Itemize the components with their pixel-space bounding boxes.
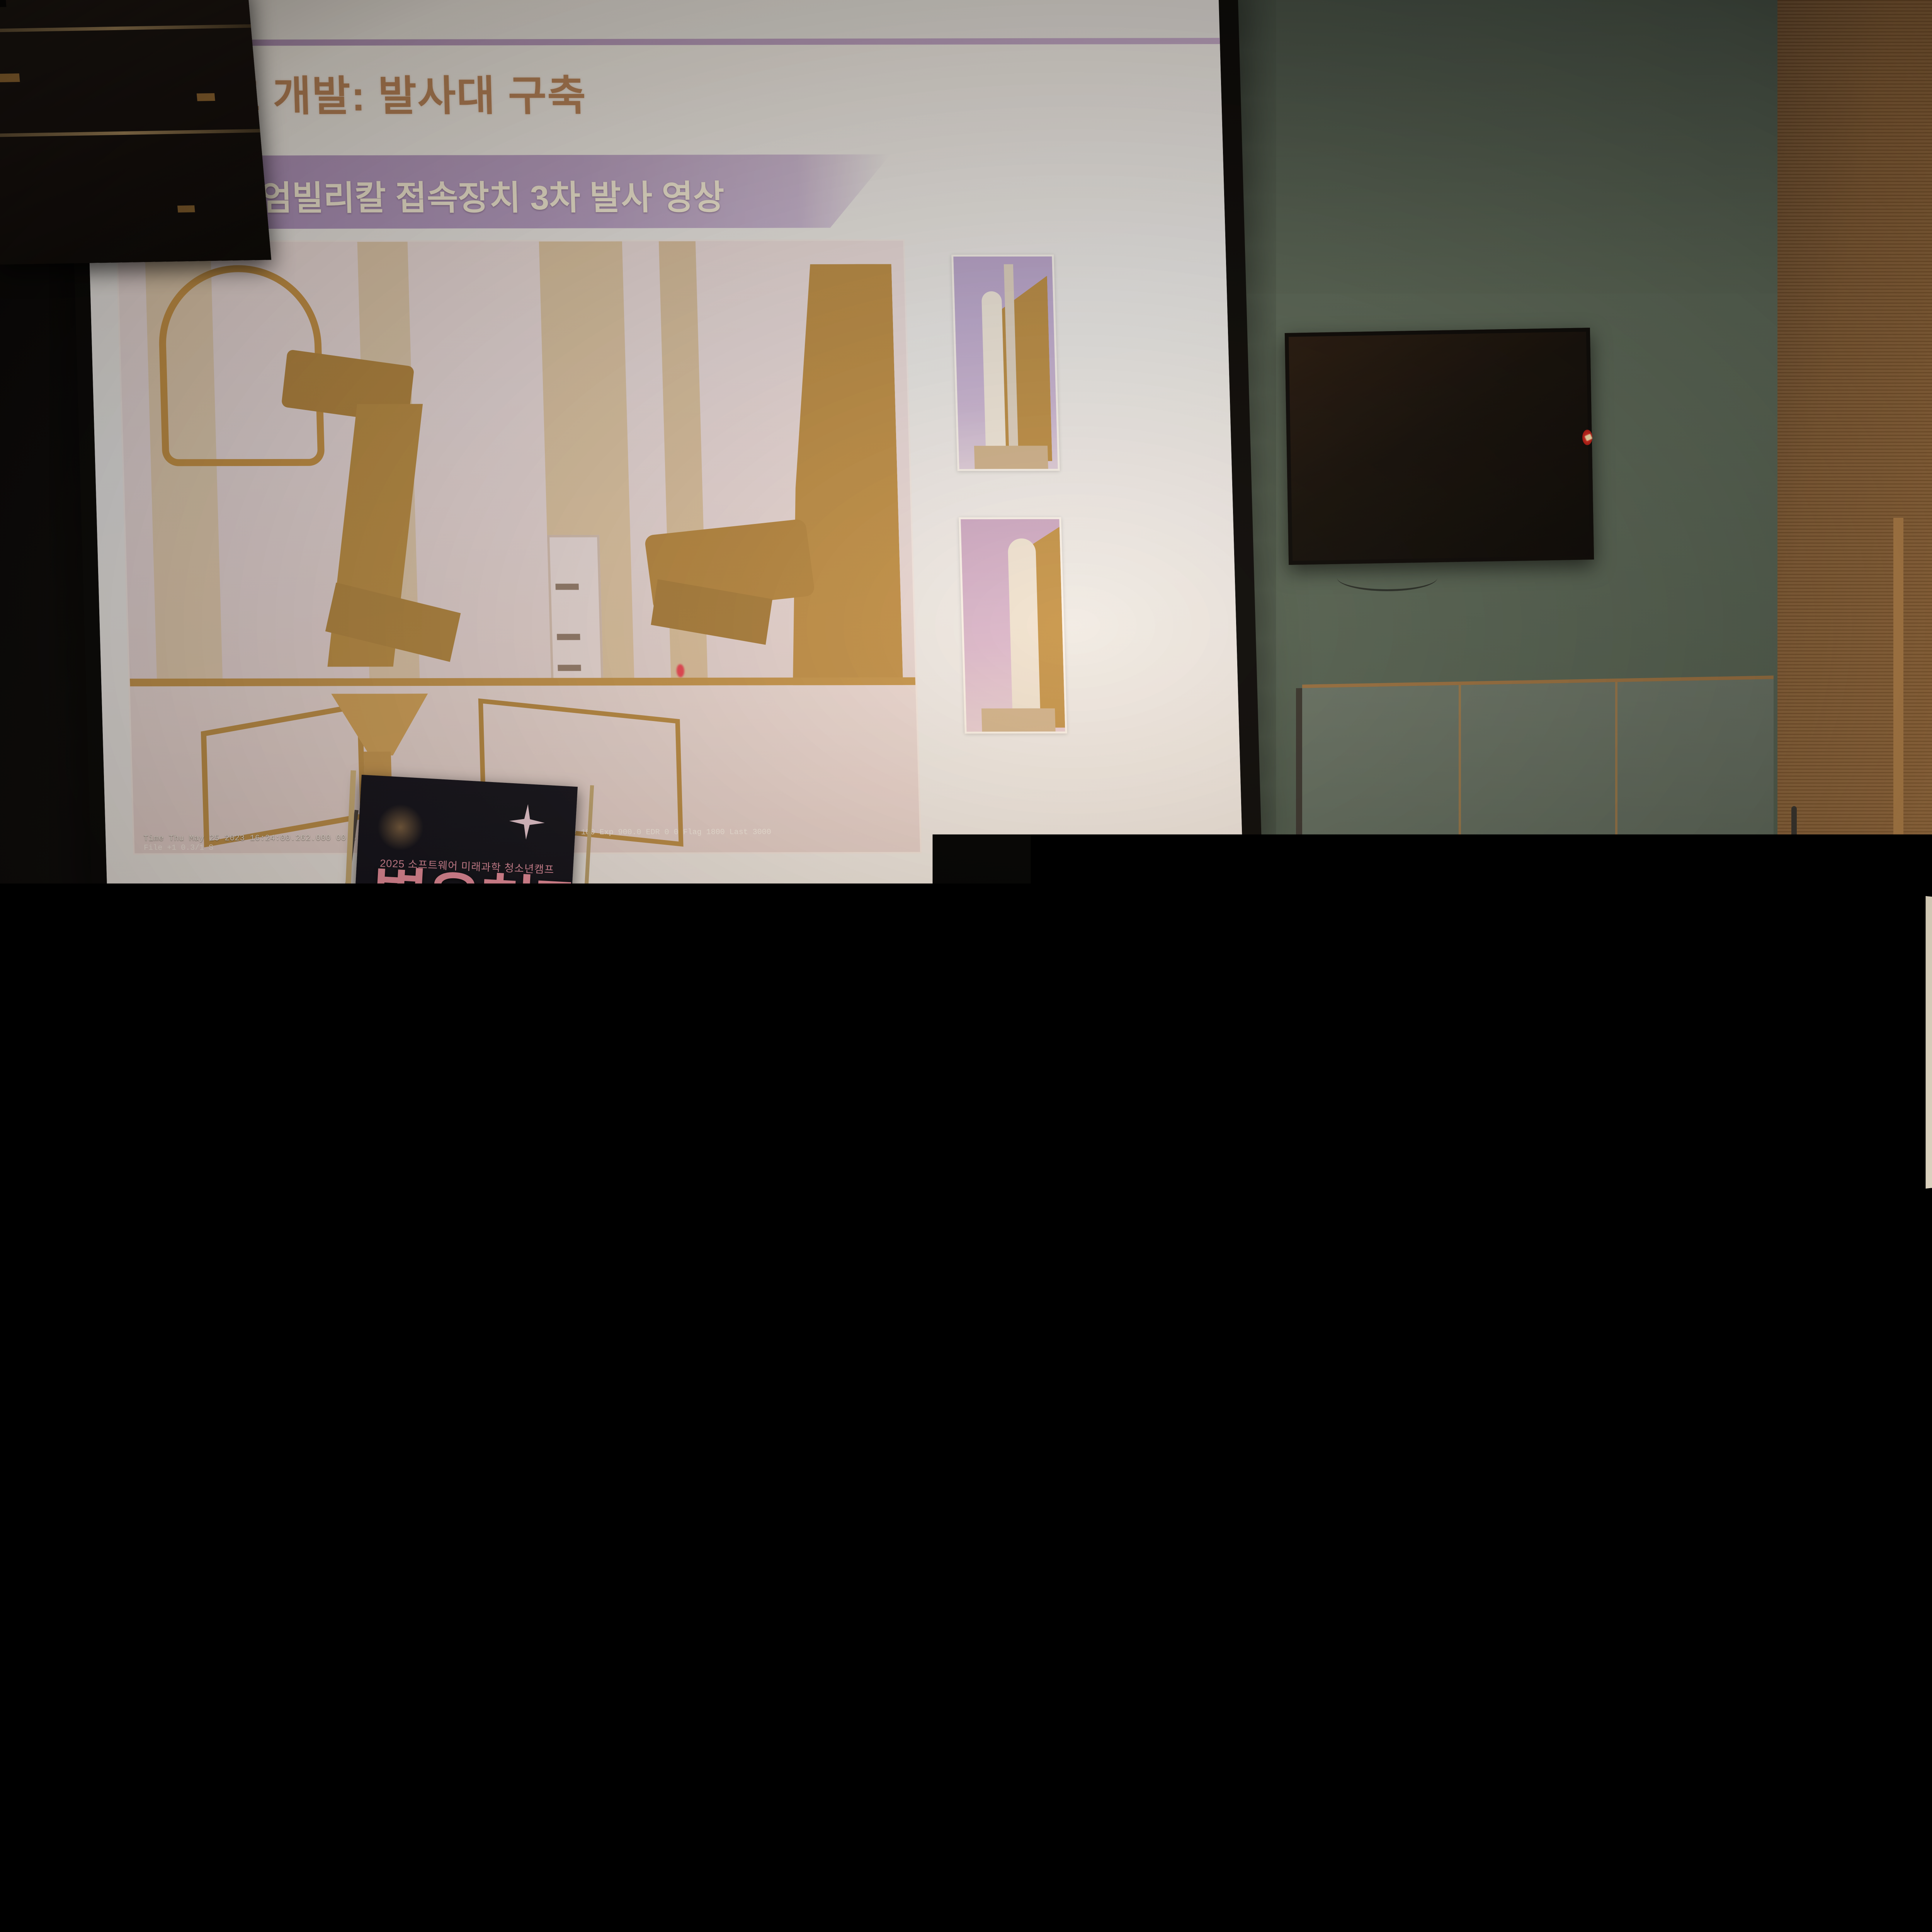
video-timecode-overlay: Time Thu May 25 2023 16:24:00.262.000 00… [143, 834, 356, 843]
banner-bullet-text-3: 신청기간 2025. 8. 18 ~ 9. 10 [373, 1265, 473, 1282]
speaker-hair-1 [374, 1060, 400, 1073]
lecture-hall-scene: 누리호 개발: 발사대 구축 ❯ 2/3단 엄빌리칼 접속장치 3차 발사 영상 [0, 0, 1932, 1490]
slide-top-accent-bar [83, 38, 1220, 46]
wall-panel-green-upper [1175, 0, 1777, 294]
slide-page-number: 46 [1175, 905, 1198, 928]
speaker-badge-3 [177, 205, 195, 213]
podium-side-face [1925, 896, 1932, 1189]
banner-info-venue-col: 포스텍 국제관 대강당 2층 [503, 972, 563, 1005]
star-icon-large [508, 803, 546, 841]
lower-truss-left [201, 702, 366, 847]
bullet-marker-1 [359, 1238, 370, 1244]
star-icon-small [447, 1170, 465, 1188]
standing-banner: 2025 소프트웨어 미래과학 청소년캠프 별유천지 최종 무료 2025년 9… [314, 774, 598, 1444]
speaker-seam-upper [0, 24, 251, 32]
speaker-affiliation-2: 천문학자 [513, 1097, 540, 1108]
banner-logo-kao: KAO한국천문연구원 [464, 1383, 534, 1400]
stage-wood-trim [1785, 1287, 1932, 1490]
wall-mounted-monitor[interactable] [1285, 328, 1594, 565]
video-file-overlay: File +1 0.3/1 S [144, 844, 214, 852]
qr-code-info[interactable] [513, 1211, 551, 1248]
thumbnail-rocket-2 [1008, 538, 1041, 720]
banner-panel: 2025 소프트웨어 미래과학 청소년캠프 별유천지 최종 무료 2025년 9… [326, 775, 578, 1427]
flag-bar-3 [558, 665, 581, 671]
banner-bullet-text-1: 대상 중·고등학생 및 일반인 120명 [375, 1236, 490, 1253]
chair-pleat-1 [1830, 974, 1832, 1182]
banner-detail-bullets: 대상 중·고등학생 및 일반인 120명 참가비 무료 (사전 신청 필수) 신… [357, 1235, 534, 1304]
monitor-bezel [1285, 328, 1594, 565]
panel-door-handle[interactable] [1791, 806, 1797, 860]
speaker-mount-bracket [0, 0, 7, 7]
banner-sponsor-logos: POSTECH KAO한국천문연구원 [349, 1376, 534, 1400]
banner-divider-rule [360, 1167, 537, 1175]
banner-footer-notes: ※ 신청자 전원에게 기념품 증정 ※ 자세한 내용은 홈페이지를 참고하세요 [350, 1343, 528, 1375]
speaker-hair-2 [471, 1060, 497, 1073]
banner-event-info: 2025년 9월 19일 ~ 9월 20일 1박 2일 / 온라인 중계 병행 … [372, 965, 556, 1005]
banner-logo-kao-text: KAO [464, 1383, 493, 1397]
speaker-badge-1 [0, 73, 20, 82]
speaker-photo-1 [361, 1056, 411, 1116]
thumbnail-base-1 [974, 446, 1048, 469]
rocket-thumbnail-2[interactable] [959, 517, 1067, 733]
banner-bullet-text-2: 참가비 무료 (사전 신청 필수) [374, 1251, 471, 1267]
speaker-name-2: 이명현 [513, 1077, 553, 1099]
ceiling-speaker-array [0, 0, 271, 265]
banner-main-title: 별유천지 [370, 868, 535, 934]
chair-skirt-cover [1756, 974, 1932, 1182]
banner-talk-titles: 천문학자와 함께하는 우리 우주 박물관 이야기 [361, 1123, 544, 1158]
speaker-photo-2 [458, 1056, 507, 1116]
bullet-marker-4 [357, 1282, 367, 1288]
banner-logo-postech: POSTECH [349, 1377, 407, 1392]
laser-pointer-dot [676, 664, 684, 677]
bullet-marker-3 [358, 1267, 368, 1274]
banner-glow-accent [376, 803, 425, 852]
banner-logo-kao-sub: 한국천문연구원 [496, 1390, 534, 1398]
flag-bar-1 [555, 583, 578, 590]
chair-pleat-2 [1899, 974, 1901, 1182]
banner-info-date-col: 2025년 9월 19일 ~ 9월 20일 1박 2일 / 온라인 중계 병행 [372, 965, 496, 1002]
speaker-badge-2 [197, 93, 215, 101]
launchpad-video[interactable]: Time Thu May 25 2023 16:24:00.262.000 00… [116, 239, 922, 855]
speaker-name-1: 고재현 [417, 1077, 456, 1099]
speaker-seam-lower [0, 129, 260, 137]
flag-bar-2 [557, 634, 580, 640]
banner-bullet-text-4: 문의 054-279-0000 [372, 1281, 440, 1295]
thumbnail-base-2 [981, 708, 1056, 731]
rocket-thumbnail-1[interactable] [951, 255, 1060, 471]
monitor-cable [1337, 564, 1437, 591]
bullet-marker-2 [359, 1252, 369, 1259]
banner-speaker-list: 09.19 (금) 고재현 한림대학교 나노융합과 물리학 교수 09.20 (… [365, 1054, 550, 1064]
